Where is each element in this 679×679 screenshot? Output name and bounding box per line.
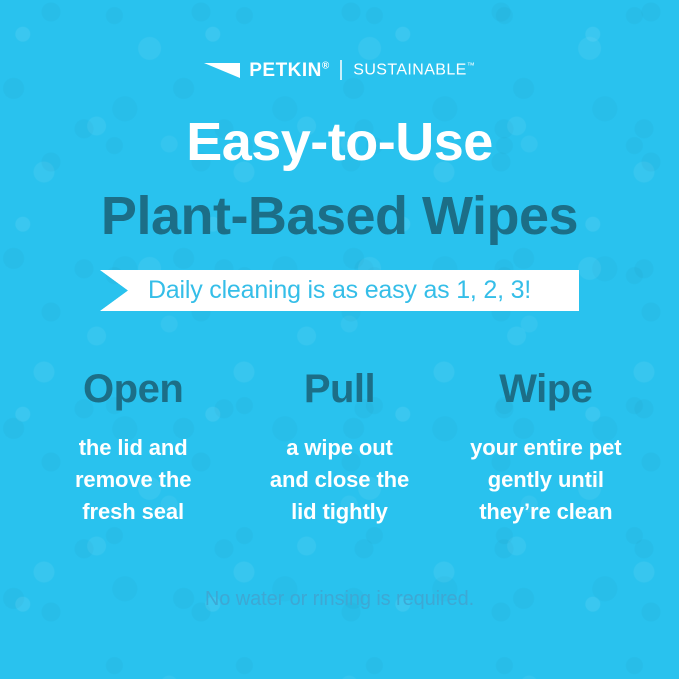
step-body-line: lid tightly <box>240 496 438 528</box>
step-pull: Pull a wipe out and close the lid tightl… <box>236 368 442 528</box>
step-body-line: a wipe out <box>240 432 438 464</box>
ribbon-text: Daily cleaning is as easy as 1, 2, 3! <box>148 278 531 303</box>
registered-mark: ® <box>322 60 329 71</box>
step-body-line: fresh seal <box>34 496 232 528</box>
trademark-mark: ™ <box>467 61 475 70</box>
brand-sub-name: SUSTAINABLE™ <box>353 62 474 78</box>
step-body-line: they’re clean <box>447 496 645 528</box>
step-body-line: the lid and <box>34 432 232 464</box>
brand-name: PETKIN® <box>249 61 329 80</box>
footer-note: No water or rinsing is required. <box>0 589 679 609</box>
step-body: the lid and remove the fresh seal <box>34 432 232 528</box>
brand-name-text: PETKIN <box>249 60 322 81</box>
step-wipe: Wipe your entire pet gently until they’r… <box>443 368 649 528</box>
steps-row: Open the lid and remove the fresh seal P… <box>30 368 649 528</box>
step-body-line: remove the <box>34 464 232 496</box>
ribbon-banner: Daily cleaning is as easy as 1, 2, 3! <box>100 270 579 311</box>
petkin-swoosh-icon <box>204 63 240 78</box>
step-title: Open <box>34 368 232 410</box>
product-infographic: PETKIN® SUSTAINABLE™ Easy-to-Use Plant-B… <box>0 0 679 679</box>
brand-sub-name-text: SUSTAINABLE <box>353 61 466 78</box>
brand-divider <box>340 60 342 80</box>
headline-line-1: Easy-to-Use <box>0 114 679 171</box>
step-body-line: your entire pet <box>447 432 645 464</box>
step-open: Open the lid and remove the fresh seal <box>30 368 236 528</box>
step-body-line: and close the <box>240 464 438 496</box>
content-layer: PETKIN® SUSTAINABLE™ Easy-to-Use Plant-B… <box>0 0 679 679</box>
step-title: Pull <box>240 368 438 410</box>
step-body-line: gently until <box>447 464 645 496</box>
step-body: your entire pet gently until they’re cle… <box>447 432 645 528</box>
brand-lockup: PETKIN® SUSTAINABLE™ <box>0 58 679 82</box>
step-body: a wipe out and close the lid tightly <box>240 432 438 528</box>
headline-line-2: Plant-Based Wipes <box>0 188 679 245</box>
step-title: Wipe <box>447 368 645 410</box>
